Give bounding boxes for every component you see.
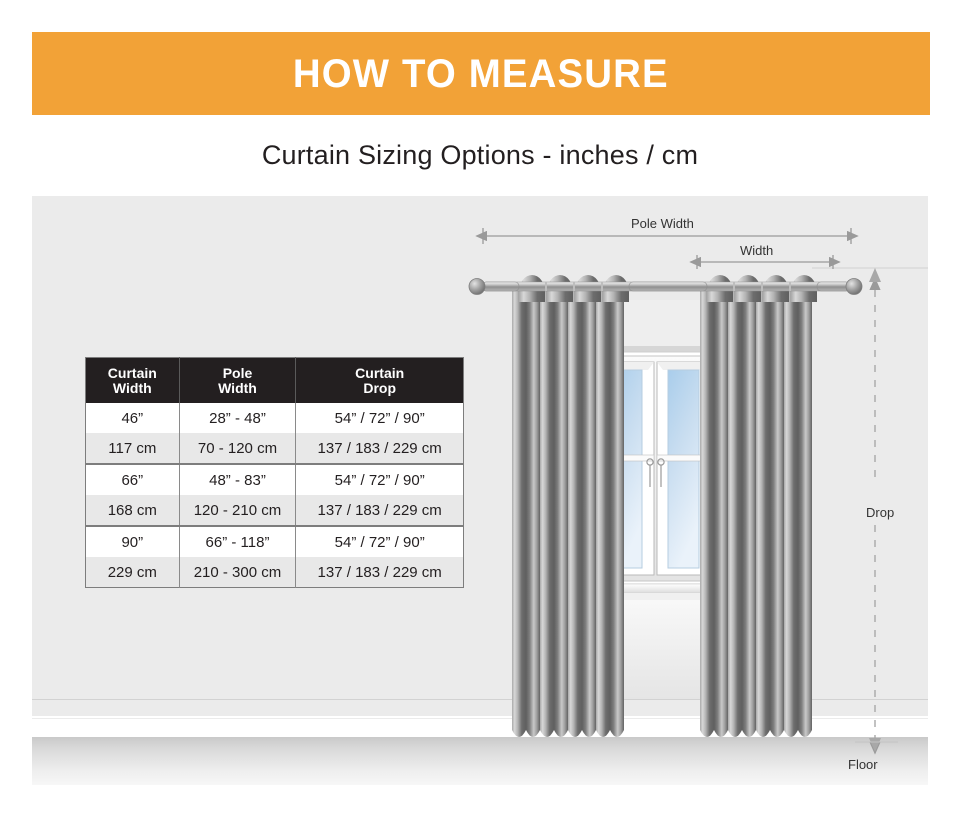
cell-curtain-width: 90” — [86, 526, 180, 557]
cell-curtain-width: 168 cm — [86, 495, 180, 526]
page-title: HOW TO MEASURE — [293, 54, 669, 94]
header-curtain-width: Curtain Width — [86, 358, 180, 404]
header-curtain-drop-line1: Curtain — [355, 365, 404, 381]
cell-pole-width: 70 - 120 cm — [179, 433, 296, 464]
header-pole-width-line2: Width — [218, 380, 257, 396]
floor-label: Floor — [848, 757, 878, 772]
floor-strip — [32, 737, 928, 785]
wall-baseline — [32, 699, 928, 700]
cell-pole-width: 120 - 210 cm — [179, 495, 296, 526]
table-row: 229 cm 210 - 300 cm 137 / 183 / 229 cm — [86, 557, 464, 588]
curtain-sizing-table: Curtain Width Pole Width Curtain Drop 46… — [85, 357, 464, 588]
cell-pole-width: 48” - 83” — [179, 464, 296, 495]
cell-curtain-drop: 54” / 72” / 90” — [296, 464, 464, 495]
header-curtain-width-line2: Width — [113, 380, 152, 396]
table-header-row: Curtain Width Pole Width Curtain Drop — [86, 358, 464, 404]
table-row: 66” 48” - 83” 54” / 72” / 90” — [86, 464, 464, 495]
cell-curtain-width: 117 cm — [86, 433, 180, 464]
width-label: Width — [740, 243, 773, 258]
header-curtain-width-line1: Curtain — [108, 365, 157, 381]
header-pole-width: Pole Width — [179, 358, 296, 404]
drop-label: Drop — [861, 505, 899, 520]
cell-curtain-width: 66” — [86, 464, 180, 495]
cell-curtain-drop: 137 / 183 / 229 cm — [296, 495, 464, 526]
cell-pole-width: 210 - 300 cm — [179, 557, 296, 588]
table-row: 90” 66” - 118” 54” / 72” / 90” — [86, 526, 464, 557]
cell-pole-width: 66” - 118” — [179, 526, 296, 557]
table-row: 117 cm 70 - 120 cm 137 / 183 / 229 cm — [86, 433, 464, 464]
cell-curtain-drop: 54” / 72” / 90” — [296, 526, 464, 557]
wall-baseline-highlight — [32, 716, 928, 718]
cell-curtain-drop: 137 / 183 / 229 cm — [296, 433, 464, 464]
cell-curtain-drop: 54” / 72” / 90” — [296, 403, 464, 433]
cell-curtain-drop: 137 / 183 / 229 cm — [296, 557, 464, 588]
header-curtain-drop-line2: Drop — [363, 380, 396, 396]
cell-curtain-width: 229 cm — [86, 557, 180, 588]
header-banner: HOW TO MEASURE — [32, 32, 930, 115]
cell-pole-width: 28” - 48” — [179, 403, 296, 433]
cell-curtain-width: 46” — [86, 403, 180, 433]
pole-width-label: Pole Width — [631, 216, 694, 231]
table-row: 46” 28” - 48” 54” / 72” / 90” — [86, 403, 464, 433]
header-pole-width-line1: Pole — [223, 365, 253, 381]
table-row: 168 cm 120 - 210 cm 137 / 183 / 229 cm — [86, 495, 464, 526]
header-curtain-drop: Curtain Drop — [296, 358, 464, 404]
subtitle: Curtain Sizing Options - inches / cm — [0, 140, 960, 171]
poster-root: HOW TO MEASURE Curtain Sizing Options - … — [0, 0, 960, 819]
